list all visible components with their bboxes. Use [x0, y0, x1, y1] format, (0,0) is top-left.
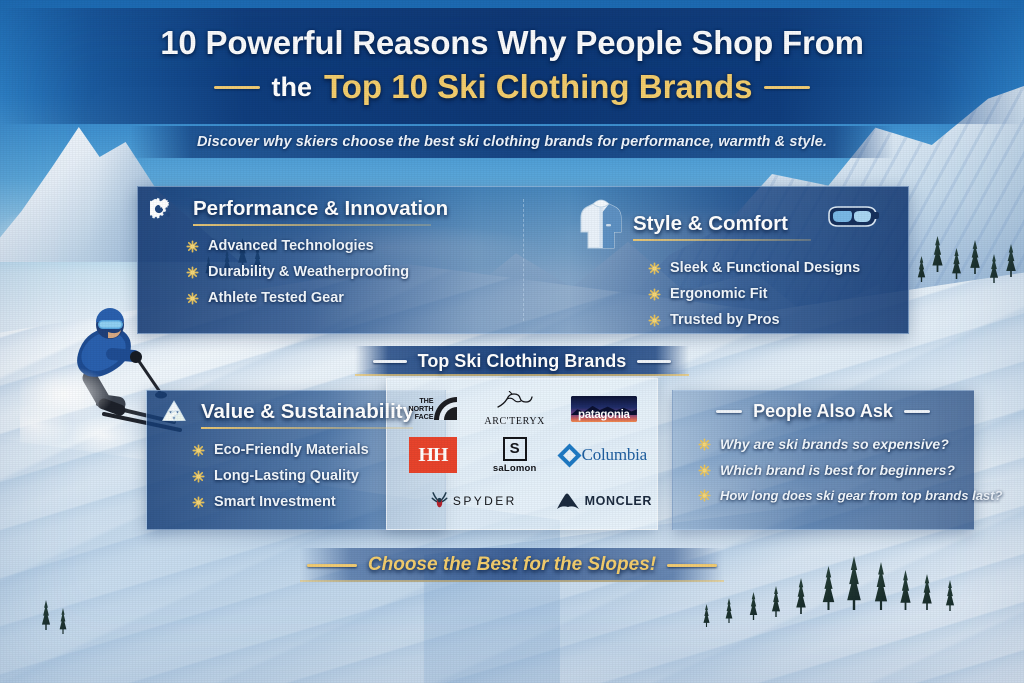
moncler-mountain-icon: [556, 492, 580, 510]
card-header: Style & Comfort: [578, 196, 908, 256]
page-title-line-2: the Top 10 Ski Clothing Brands: [0, 68, 1024, 106]
list-item-label: Why are ski brands so expensive?: [720, 436, 949, 452]
brand-wordmark: HH: [418, 444, 447, 467]
tree-icon: [968, 240, 982, 274]
tree-icon: [40, 600, 52, 630]
ski-jacket-icon: [578, 198, 624, 256]
heading-rule-right: [637, 360, 671, 363]
title-prefix: the: [272, 72, 313, 103]
snowflake-bullet-icon: [698, 464, 711, 477]
question-list: Why are ski brands so expensive? Which b…: [698, 436, 974, 503]
brand-wordmark: saLomon: [493, 463, 537, 474]
snowflake-bullet-icon: [698, 438, 711, 451]
brand-wordmark: THE NORTH FACE: [408, 397, 433, 420]
list-item-label: Advanced Technologies: [208, 238, 374, 254]
snowflake-bullet-icon: [186, 292, 199, 305]
list-item[interactable]: Sleek & Functional Designs: [648, 260, 908, 276]
card-title: Value & Sustainability: [201, 400, 414, 424]
list-item[interactable]: How long does ski gear from top brands l…: [698, 488, 974, 503]
snowflake-bullet-icon: [192, 496, 205, 509]
heading-text: Top Ski Clothing Brands: [418, 351, 627, 372]
tree-icon: [916, 256, 927, 282]
tree-icon: [702, 604, 711, 627]
title-underline: [633, 239, 811, 241]
north-face-dome-icon: [434, 397, 457, 420]
tree-icon: [1004, 244, 1018, 277]
brand-wordmark: MONCLER: [585, 494, 652, 508]
list-item[interactable]: Advanced Technologies: [186, 238, 500, 254]
snowflake-bullet-icon: [648, 262, 661, 275]
columbia-diamond-icon: [561, 447, 578, 464]
brand-logo-arcteryx[interactable]: ARC'TERYX: [484, 391, 545, 427]
paa-heading: People Also Ask: [688, 398, 958, 424]
snowflake-bullet-icon: [192, 444, 205, 457]
list-item-label: Durability & Weatherproofing: [208, 264, 409, 280]
tree-icon: [844, 556, 864, 610]
subtitle-banner: Discover why skiers choose the best ski …: [130, 126, 894, 158]
brand-logo-columbia[interactable]: Columbia: [561, 445, 647, 465]
footer-cta-text: Choose the Best for the Slopes!: [368, 554, 656, 576]
subtitle-text: Discover why skiers choose the best ski …: [197, 134, 827, 150]
list-item[interactable]: Athlete Tested Gear: [186, 290, 500, 306]
brand-wordmark: ARC'TERYX: [484, 416, 545, 427]
tree-icon: [930, 236, 945, 272]
brand-wordmark: patagonia: [571, 409, 637, 422]
brand-wordmark: Columbia: [582, 445, 647, 465]
recycle-icon: [156, 398, 192, 430]
title-rule-right: [764, 86, 810, 89]
panel-divider: [523, 199, 524, 321]
snowflake-bullet-icon: [648, 288, 661, 301]
list-item-label: Long-Lasting Quality: [214, 468, 359, 484]
heading-rule-right: [904, 410, 930, 413]
list-item-label: Sleek & Functional Designs: [670, 260, 860, 276]
footer-rule-right: [667, 564, 717, 567]
brands-section-heading: Top Ski Clothing Brands: [355, 346, 689, 376]
heading-rule-left: [716, 410, 742, 413]
snowflake-bullet-icon: [186, 266, 199, 279]
list-item-label: Eco-Friendly Materials: [214, 442, 369, 458]
brand-logo-the-north-face[interactable]: THE NORTH FACE: [408, 397, 457, 420]
spyder-spider-icon: [431, 491, 448, 511]
bullet-list: Sleek & Functional Designs Ergonomic Fit…: [648, 260, 908, 328]
tree-icon: [988, 254, 1000, 283]
bullet-list: Advanced Technologies Durability & Weath…: [186, 238, 500, 306]
list-item-label: How long does ski gear from top brands l…: [720, 488, 1002, 503]
tree-icon: [820, 566, 837, 610]
infographic-canvas: 10 Powerful Reasons Why People Shop From…: [0, 0, 1024, 683]
card-people-also-ask[interactable]: People Also Ask Why are ski brands so ex…: [688, 398, 974, 513]
title-underline: [201, 427, 413, 429]
heading-rule-left: [373, 360, 407, 363]
tree-icon: [898, 570, 913, 610]
title-rule-left: [214, 86, 260, 89]
card-title: Performance & Innovation: [193, 197, 448, 221]
brand-logo-moncler[interactable]: MONCLER: [556, 492, 652, 510]
list-item[interactable]: Ergonomic Fit: [648, 286, 908, 302]
footer-rule-left: [307, 564, 357, 567]
arcteryx-fossil-icon: [495, 391, 535, 411]
title-highlight: Top 10 Ski Clothing Brands: [324, 68, 752, 106]
card-title: People Also Ask: [753, 401, 893, 422]
ski-goggles-icon: [824, 204, 880, 234]
brand-logo-grid: THE NORTH FACE ARC'TERYX pa: [392, 386, 652, 524]
brand-logo-patagonia[interactable]: patagonia: [571, 396, 637, 422]
list-item-label: Athlete Tested Gear: [208, 290, 344, 306]
list-item[interactable]: Durability & Weatherproofing: [186, 264, 500, 280]
salomon-mark-icon: S: [503, 437, 527, 461]
gears-icon: [150, 196, 184, 226]
title-underline: [193, 224, 431, 226]
tree-icon: [748, 592, 759, 620]
tree-icon: [944, 580, 956, 611]
list-item-label: Smart Investment: [214, 494, 336, 510]
tree-icon: [920, 574, 934, 610]
list-item[interactable]: Trusted by Pros: [648, 312, 908, 328]
list-item[interactable]: Why are ski brands so expensive?: [698, 436, 974, 452]
tree-icon: [770, 586, 782, 617]
snowflake-bullet-icon: [192, 470, 205, 483]
list-item-label: Trusted by Pros: [670, 312, 780, 328]
card-style-comfort[interactable]: Style & Comfort Sleek & Functional Desig…: [578, 196, 908, 338]
brand-wordmark: SPYDER: [453, 494, 517, 508]
card-title: Style & Comfort: [633, 212, 811, 236]
list-item[interactable]: Which brand is best for beginners?: [698, 462, 974, 478]
snowflake-bullet-icon: [186, 240, 199, 253]
brand-logo-salomon[interactable]: S saLomon: [493, 437, 537, 474]
page-title-line-1: 10 Powerful Reasons Why People Shop From: [0, 24, 1024, 62]
tree-icon: [950, 248, 963, 279]
tree-icon: [58, 608, 68, 634]
list-item-label: Which brand is best for beginners?: [720, 462, 955, 478]
tree-icon: [794, 578, 808, 614]
snowflake-bullet-icon: [698, 489, 711, 502]
tree-icon: [872, 562, 890, 610]
card-performance-innovation[interactable]: Performance & Innovation Advanced Techno…: [150, 196, 500, 316]
brand-logo-helly-hansen[interactable]: HH: [409, 437, 457, 473]
tree-icon: [724, 598, 734, 623]
snowflake-bullet-icon: [648, 314, 661, 327]
brand-logo-spyder[interactable]: SPYDER: [431, 491, 517, 511]
card-header: Performance & Innovation: [150, 196, 500, 226]
list-item-label: Ergonomic Fit: [670, 286, 767, 302]
footer-cta[interactable]: Choose the Best for the Slopes!: [300, 548, 724, 582]
